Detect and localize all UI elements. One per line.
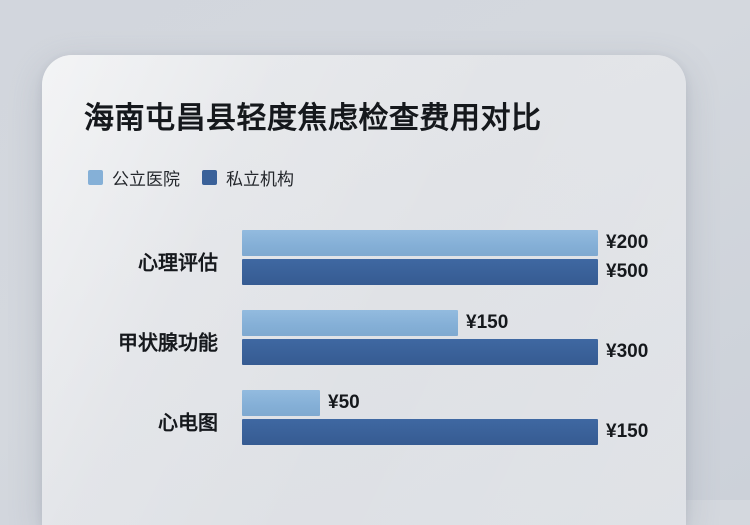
bar-value-label: ¥150: [466, 312, 508, 334]
legend-swatch-public: [88, 170, 103, 185]
bar-group: 甲状腺功能 ¥150 ¥300: [42, 301, 686, 381]
bar-row: ¥150: [242, 419, 686, 445]
bar-row: ¥500: [242, 259, 686, 285]
bar-value-label: ¥200: [606, 232, 648, 254]
bar-value-label: ¥500: [606, 261, 648, 283]
bar-private[interactable]: [242, 259, 598, 285]
bar-group-bars: ¥150 ¥300: [242, 310, 686, 365]
bar-row: ¥200: [242, 230, 686, 256]
bar-group: 心电图 ¥50 ¥150: [42, 381, 686, 461]
bar-value-label: ¥150: [606, 421, 648, 443]
legend-item-public[interactable]: 公立医院: [88, 165, 180, 190]
bar-private[interactable]: [242, 419, 598, 445]
bar-group-label: 甲状腺功能: [42, 327, 218, 356]
bar-public[interactable]: [242, 310, 458, 336]
bar-value-label: ¥50: [328, 392, 360, 414]
bar-group-bars: ¥200 ¥500: [242, 230, 686, 285]
bar-group-label: 心理评估: [42, 247, 218, 276]
bar-row: ¥300: [242, 339, 686, 365]
legend-label-public: 公立医院: [112, 165, 180, 190]
chart-legend: 公立医院 私立机构: [88, 165, 294, 190]
legend-item-private[interactable]: 私立机构: [202, 165, 294, 190]
bar-row: ¥50: [242, 390, 686, 416]
page-title: 海南屯昌县轻度焦虑检查费用对比: [84, 93, 542, 137]
bar-value-label: ¥300: [606, 341, 648, 363]
bar-public[interactable]: [242, 390, 320, 416]
bar-public[interactable]: [242, 230, 598, 256]
bar-row: ¥150: [242, 310, 686, 336]
legend-label-private: 私立机构: [226, 165, 294, 190]
chart-plot-area: 心理评估 ¥200 ¥500 甲状腺功能 ¥150: [42, 221, 686, 461]
bar-group: 心理评估 ¥200 ¥500: [42, 221, 686, 301]
legend-swatch-private: [202, 170, 217, 185]
chart-card: 海南屯昌县轻度焦虑检查费用对比 公立医院 私立机构 心理评估 ¥200 ¥500: [42, 55, 686, 525]
bar-private[interactable]: [242, 339, 598, 365]
bar-group-bars: ¥50 ¥150: [242, 390, 686, 445]
bar-group-label: 心电图: [42, 407, 218, 436]
